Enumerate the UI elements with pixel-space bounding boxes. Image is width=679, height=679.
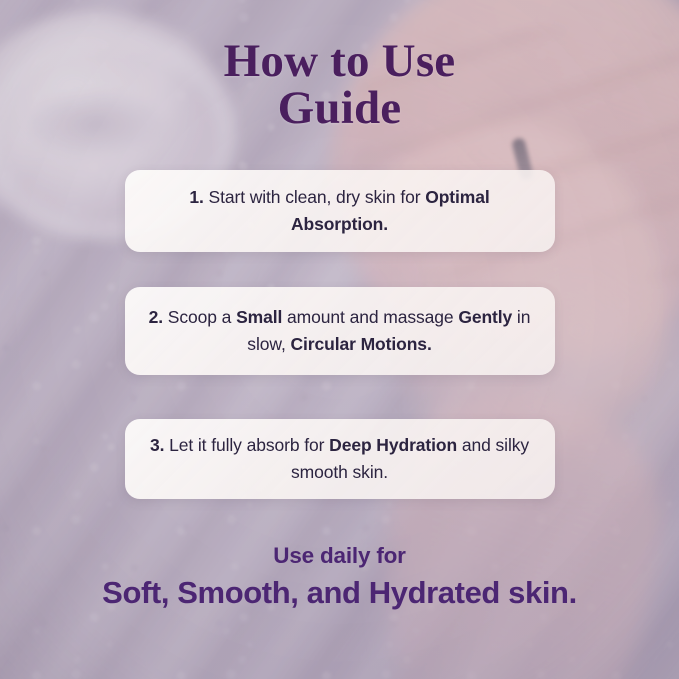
step-2-part-3: Gently xyxy=(458,307,512,327)
footer-tagline: Use daily for Soft, Smooth, and Hydrated… xyxy=(0,541,679,613)
step-2-part-2: amount and massage xyxy=(282,307,458,327)
how-to-use-poster: How to Use Guide 1. Start with clean, dr… xyxy=(0,0,679,679)
step-card-2: 2. Scoop a Small amount and massage Gent… xyxy=(125,287,555,375)
step-card-3: 3. Let it fully absorb for Deep Hydratio… xyxy=(125,419,555,499)
step-2-part-5: Circular Motions. xyxy=(290,334,431,354)
page-title: How to Use Guide xyxy=(0,38,679,132)
tagline-small-text: Use daily for xyxy=(0,541,679,571)
step-3-text: 3. Let it fully absorb for Deep Hydratio… xyxy=(147,432,533,486)
step-1-part-0: Start with clean, dry skin for xyxy=(204,187,425,207)
step-2-part-0: Scoop a xyxy=(163,307,236,327)
step-2-text: 2. Scoop a Small amount and massage Gent… xyxy=(147,304,533,358)
step-card-1: 1. Start with clean, dry skin for Optima… xyxy=(125,170,555,252)
step-3-part-0: Let it fully absorb for xyxy=(164,435,329,455)
steps-list: 1. Start with clean, dry skin for Optima… xyxy=(125,170,555,499)
tagline-big-text: Soft, Smooth, and Hydrated skin. xyxy=(0,573,679,613)
title-line-2: Guide xyxy=(0,85,679,132)
step-1-text: 1. Start with clean, dry skin for Optima… xyxy=(147,184,533,238)
step-1-number: 1. xyxy=(189,187,203,207)
step-2-part-1: Small xyxy=(236,307,282,327)
step-3-number: 3. xyxy=(150,435,164,455)
step-3-part-1: Deep Hydration xyxy=(329,435,457,455)
step-2-number: 2. xyxy=(149,307,163,327)
title-line-1: How to Use xyxy=(224,35,456,87)
poster-content: How to Use Guide 1. Start with clean, dr… xyxy=(0,0,679,679)
